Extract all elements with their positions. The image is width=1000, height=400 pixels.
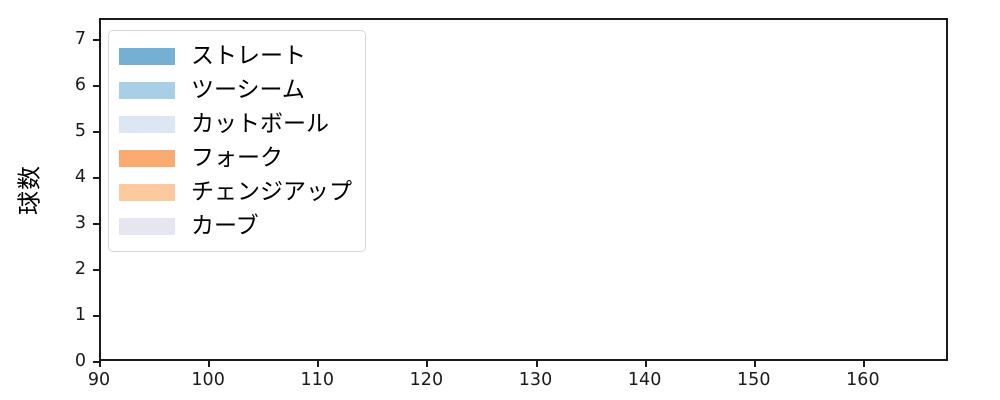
legend-label: ツーシーム xyxy=(191,79,305,102)
x-tick-label: 100 xyxy=(191,370,224,390)
legend-item-1[interactable]: ツーシーム xyxy=(119,73,351,107)
legend-swatch-icon xyxy=(119,116,175,133)
legend-item-2[interactable]: カットボール xyxy=(119,107,351,141)
legend: ストレートツーシームカットボールフォークチェンジアップカーブ xyxy=(108,30,366,252)
legend-swatch-icon xyxy=(119,82,175,99)
legend-item-4[interactable]: チェンジアップ xyxy=(119,175,351,209)
legend-label: ストレート xyxy=(191,45,306,68)
legend-swatch-icon xyxy=(119,218,175,235)
x-tick-mark xyxy=(645,361,647,367)
y-tick-label: 0 xyxy=(75,351,86,371)
x-tick-label: 160 xyxy=(846,370,879,390)
x-tick-label: 110 xyxy=(301,370,334,390)
legend-label: フォーク xyxy=(191,147,283,170)
x-tick-mark xyxy=(863,361,865,367)
legend-item-0[interactable]: ストレート xyxy=(119,39,351,73)
x-tick-mark xyxy=(536,361,538,367)
x-tick-label: 120 xyxy=(410,370,443,390)
legend-swatch-icon xyxy=(119,48,175,65)
y-tick-label: 5 xyxy=(75,121,86,141)
legend-swatch-icon xyxy=(119,150,175,167)
y-tick-label: 3 xyxy=(75,213,86,233)
legend-label: カーブ xyxy=(191,215,259,238)
legend-label: カットボール xyxy=(191,113,329,136)
x-tick-mark xyxy=(754,361,756,367)
y-tick-label: 4 xyxy=(75,167,86,187)
histogram-chart: 球数 01234567 90100110120130140150160 ストレー… xyxy=(0,0,1000,400)
x-tick-label: 150 xyxy=(737,370,770,390)
y-tick-label: 2 xyxy=(75,259,86,279)
y-tick-label: 1 xyxy=(75,305,86,325)
legend-item-3[interactable]: フォーク xyxy=(119,141,351,175)
x-tick-label: 140 xyxy=(628,370,661,390)
x-tick-label: 90 xyxy=(88,370,110,390)
x-tick-mark xyxy=(208,361,210,367)
legend-label: チェンジアップ xyxy=(191,181,352,204)
y-tick-label: 7 xyxy=(75,29,86,49)
x-tick-label: 130 xyxy=(519,370,552,390)
x-tick-mark xyxy=(99,361,101,367)
legend-swatch-icon xyxy=(119,184,175,201)
x-tick-mark xyxy=(317,361,319,367)
y-axis-title: 球数 xyxy=(10,165,45,215)
legend-item-5[interactable]: カーブ xyxy=(119,209,351,243)
y-tick-label: 6 xyxy=(75,75,86,95)
x-tick-mark xyxy=(426,361,428,367)
